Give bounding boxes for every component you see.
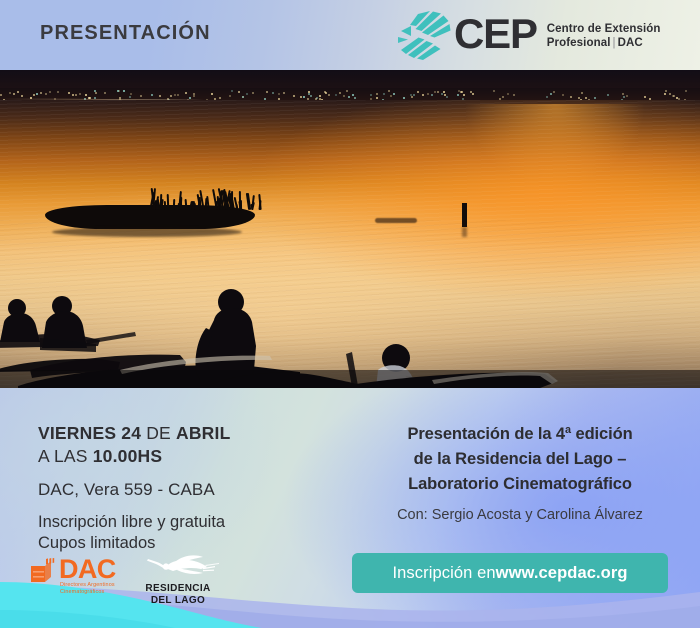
cta-prefix: Inscripción en <box>392 564 495 583</box>
cep-tagline-line2: Profesional|DAC <box>547 36 661 50</box>
event-date-connector: DE <box>141 423 176 443</box>
event-time-value: 10.00HS <box>93 446 163 466</box>
event-time: A LAS 10.00HS <box>38 444 358 468</box>
cep-tagline-dac: DAC <box>618 37 643 49</box>
residencia-word-line2: DEL LAGO <box>135 595 221 607</box>
residencia-word-line1: RESIDENCIA <box>135 583 221 595</box>
dac-wordmark: DAC <box>59 554 116 584</box>
event-note-free: Inscripción libre y gratuita <box>38 512 358 533</box>
residencia-del-lago-logo[interactable]: RESIDENCIA DEL LAGO <box>135 552 221 600</box>
cta-url: www.cepdac.org <box>496 564 628 583</box>
event-date-day: VIERNES 24 <box>38 423 141 443</box>
cep-tagline-separator: | <box>611 37 618 49</box>
event-venue: DAC, Vera 559 - CABA <box>38 479 358 501</box>
hero-photo <box>0 70 700 388</box>
cep-wordmark: CEP <box>454 13 537 55</box>
event-details-block: VIERNES 24 DE ABRIL A LAS 10.00HS DAC, V… <box>38 422 358 554</box>
poster-canvas: PRESENTACIÓN <box>0 0 700 628</box>
talk-speakers: Con: Sergio Acosta y Carolina Álvarez <box>355 506 685 525</box>
heron-bird-icon <box>135 552 221 578</box>
registration-cta-button[interactable]: Inscripción en www.cepdac.org <box>352 553 668 593</box>
dac-subtitle: Directores Argentinos Cinematográficos <box>60 582 115 596</box>
cep-logo-lockup: CEP Centro de Extensión Profesional|DAC <box>396 7 661 63</box>
photo-foreground-silhouettes <box>0 70 700 388</box>
cep-tagline-line1: Centro de Extensión <box>547 22 661 36</box>
event-time-prefix: A LAS <box>38 446 93 466</box>
talk-details-block: Presentación de la 4ª edición de la Resi… <box>355 422 685 525</box>
event-date-month: ABRIL <box>176 423 230 443</box>
dac-film-mark-icon <box>30 558 56 584</box>
cep-tagline: Centro de Extensión Profesional|DAC <box>547 22 661 50</box>
dac-subtitle-line2: Cinematográficos <box>60 589 115 596</box>
talk-title-line3: Laboratorio Cinematográfico <box>355 472 685 497</box>
dac-subtitle-line1: Directores Argentinos <box>60 582 115 589</box>
event-note-limited: Cupos limitados <box>38 533 358 554</box>
cep-swirl-mark-icon <box>396 7 452 63</box>
event-date: VIERNES 24 DE ABRIL <box>38 422 358 444</box>
page-title: PRESENTACIÓN <box>40 22 211 45</box>
cep-tagline-profesional: Profesional <box>547 37 611 49</box>
talk-title-line1: Presentación de la 4ª edición <box>355 422 685 447</box>
header-bar: PRESENTACIÓN <box>0 0 700 70</box>
talk-title-line2: de la Residencia del Lago – <box>355 447 685 472</box>
dac-logo[interactable]: DAC Directores Argentinos Cinematográfic… <box>30 556 122 596</box>
